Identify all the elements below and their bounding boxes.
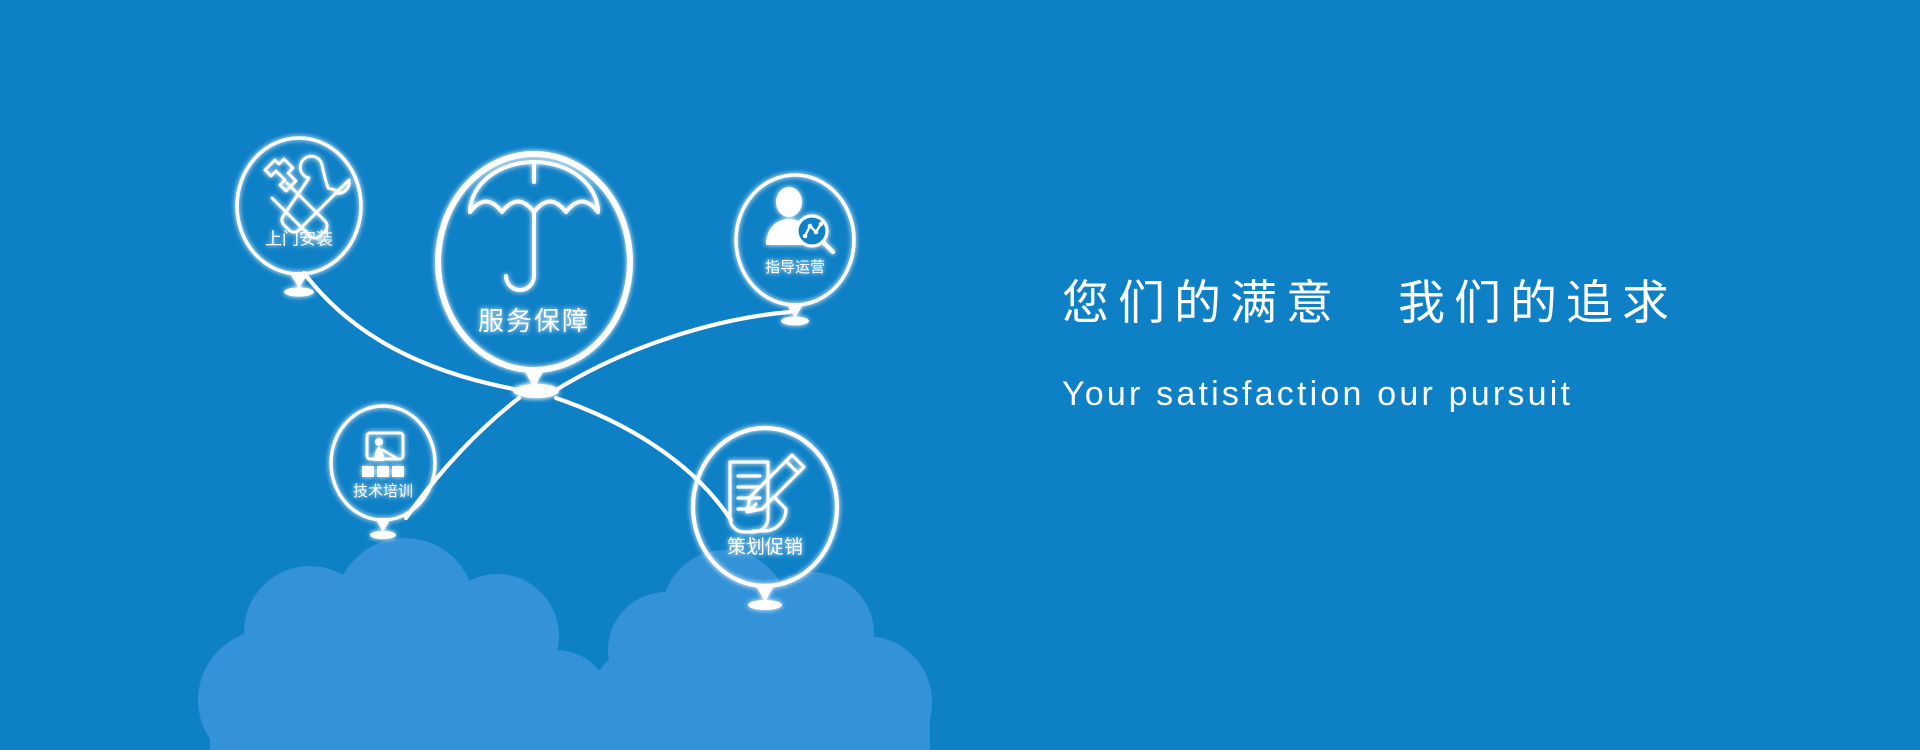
node-label: 策划促销 bbox=[727, 536, 803, 558]
node-label: 服务保障 bbox=[478, 306, 590, 336]
slogan-main-title: 您们的满意 我们的追求 bbox=[1062, 275, 1802, 331]
node-label: 指导运营 bbox=[765, 259, 825, 276]
node-base bbox=[781, 317, 809, 326]
node-label: 上门安装 bbox=[265, 229, 333, 248]
hero-banner: 上门安装 服务保障 bbox=[0, 0, 1920, 750]
slogan-subtitle: Your satisfaction our pursuit bbox=[1062, 375, 1802, 414]
central-hub bbox=[515, 384, 559, 398]
node-base bbox=[370, 531, 396, 539]
node-base bbox=[284, 287, 314, 296]
slogan-block: 您们的满意 我们的追求 Your satisfaction our pursui… bbox=[1062, 275, 1802, 414]
node-base bbox=[748, 600, 782, 610]
node-label: 技术培训 bbox=[353, 483, 413, 500]
hub-base bbox=[515, 384, 559, 398]
